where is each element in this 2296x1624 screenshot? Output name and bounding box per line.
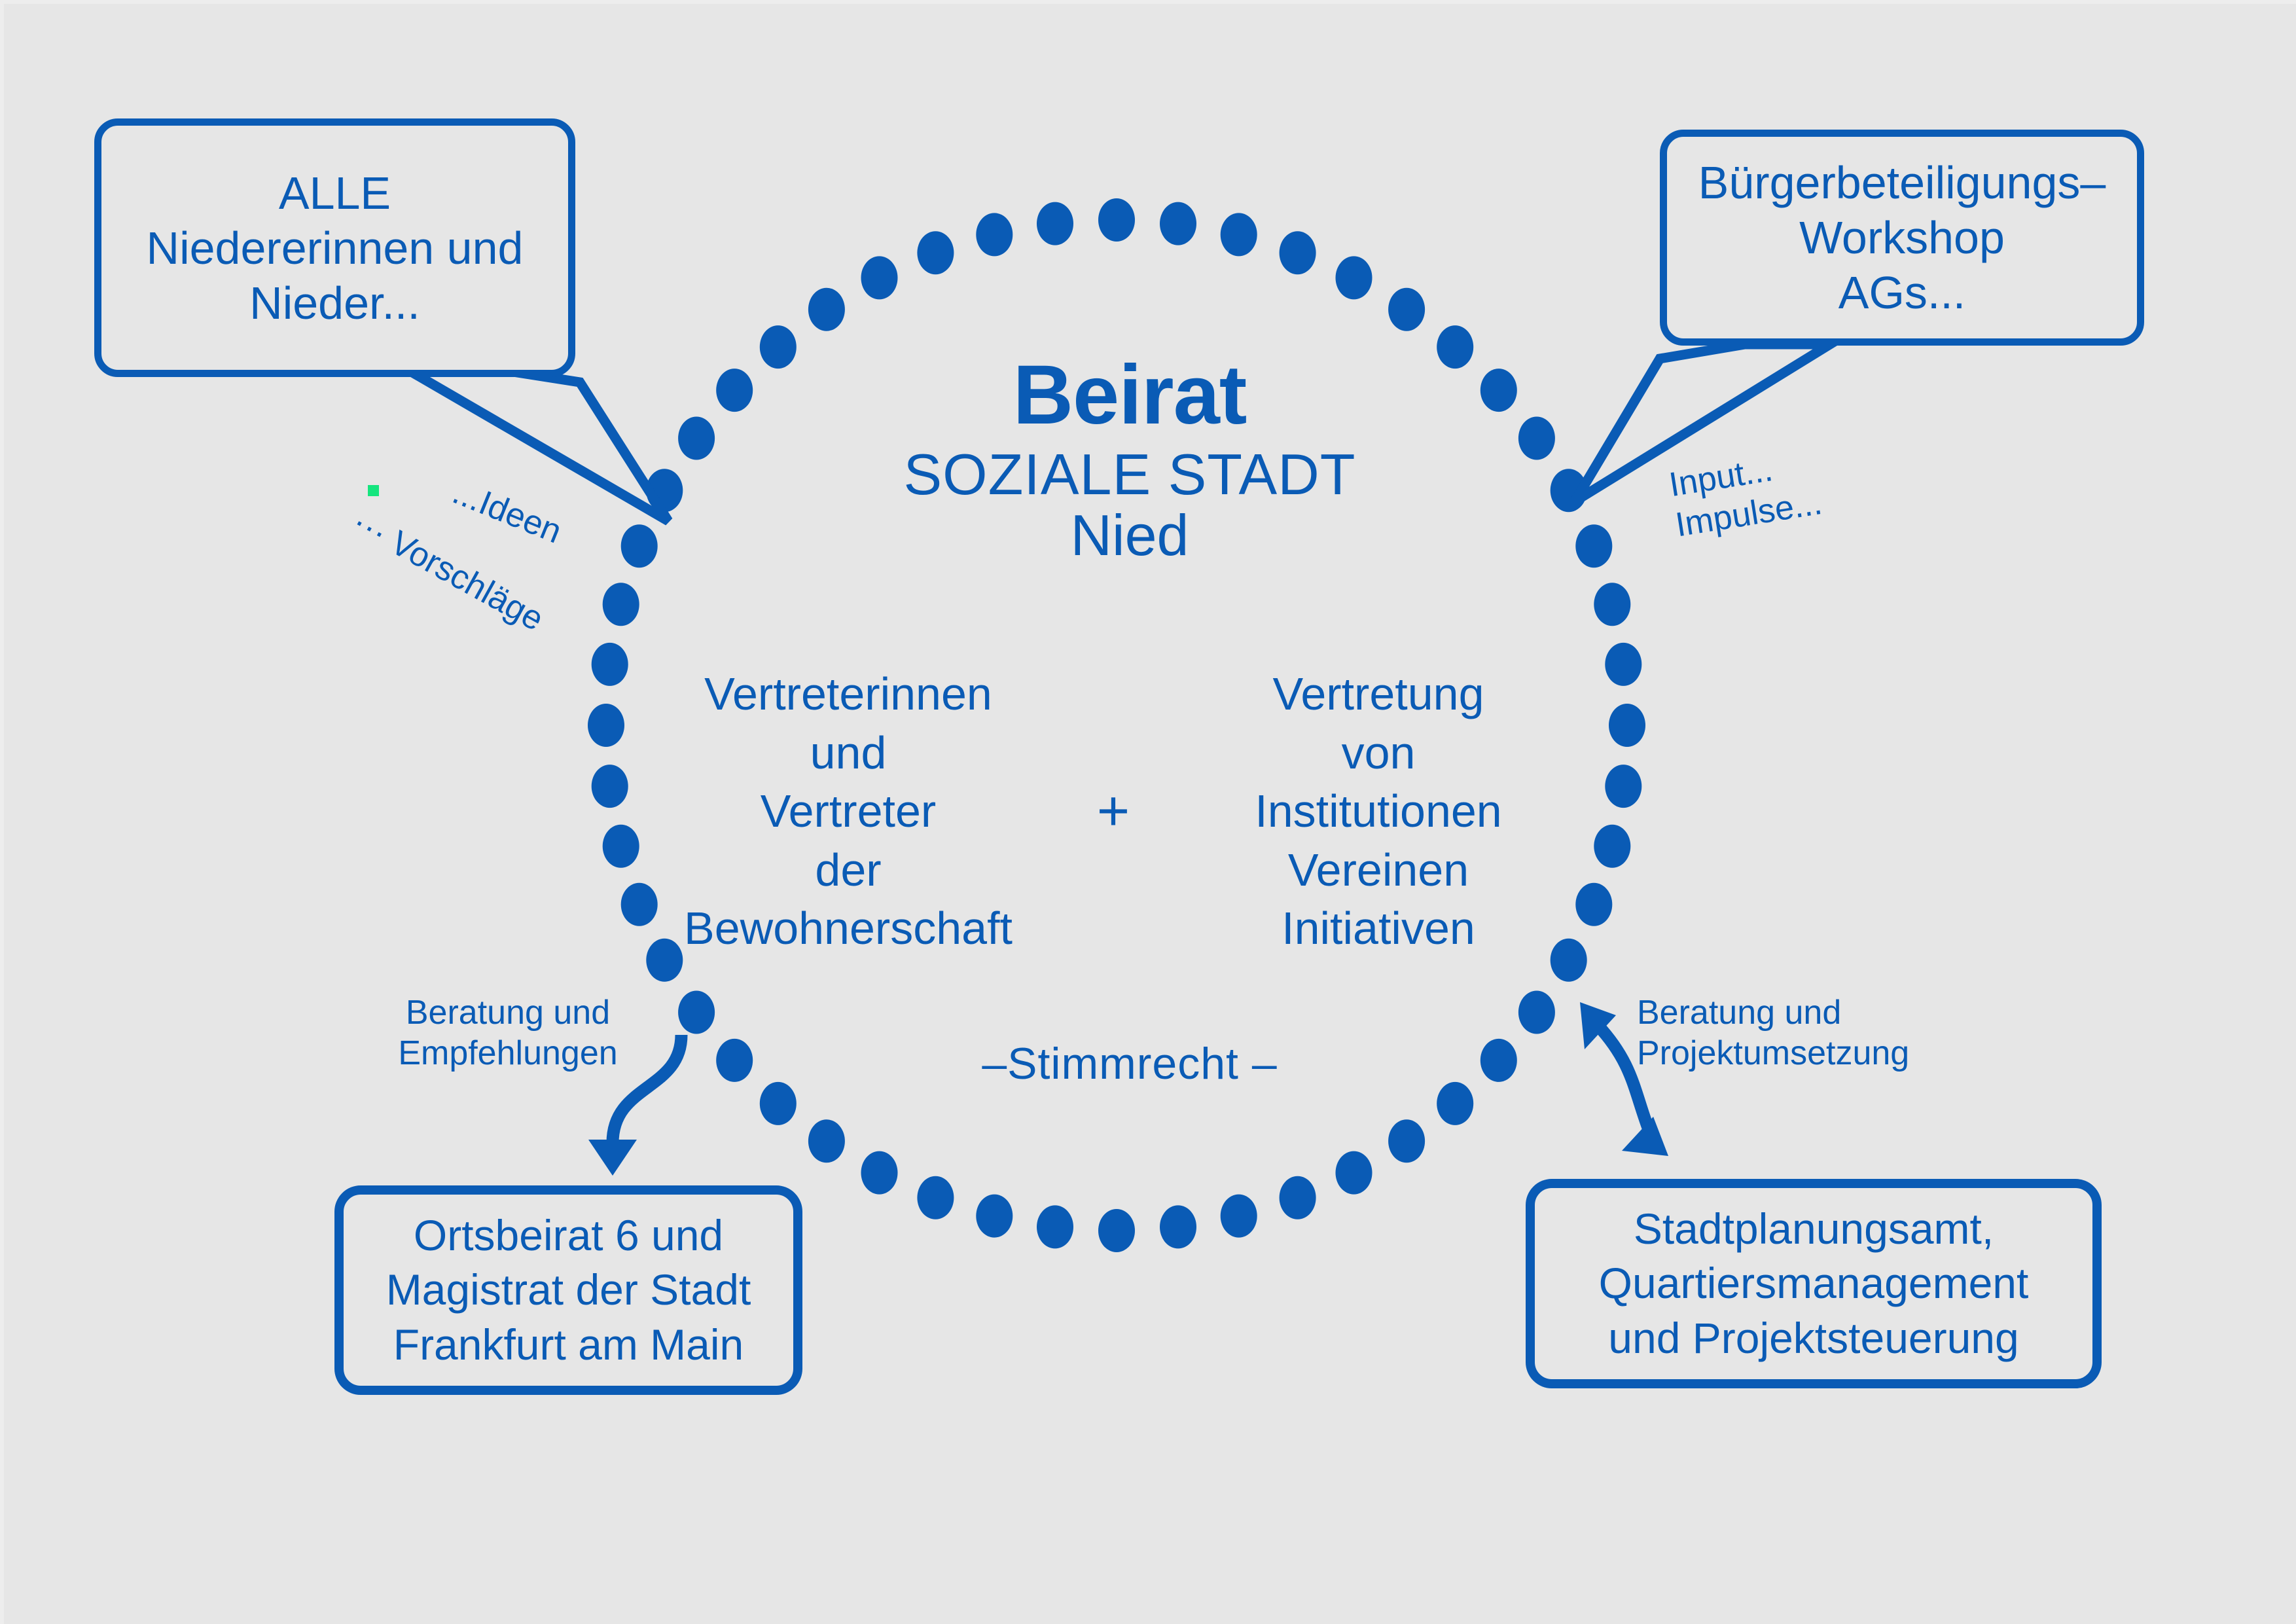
- ring-dot: [1551, 469, 1587, 512]
- box-stadtplanungsamt-text: Stadtplanungsamt,Quartiersmanagementund …: [1599, 1202, 2029, 1365]
- ring-dot: [1388, 288, 1425, 331]
- ring-dot: [1098, 198, 1135, 242]
- ring-dot: [1160, 1205, 1196, 1248]
- ring-dot: [861, 1151, 898, 1195]
- ring-dot: [917, 1176, 954, 1219]
- ring-dot: [588, 704, 624, 747]
- ring-dot: [1098, 1209, 1135, 1252]
- ring-dot: [808, 1119, 845, 1163]
- box-stadtplanungsamt[interactable]: Stadtplanungsamt,Quartiersmanagementund …: [1526, 1179, 2102, 1388]
- speech-bubble-workshop-text: Bürgerbeteiligungs–WorkshopAGs...: [1698, 155, 2106, 320]
- ring-dot: [1336, 1151, 1372, 1195]
- label-beratung-empfehlungen: Beratung undEmpfehlungen: [370, 992, 645, 1074]
- ring-dot: [808, 288, 845, 331]
- ring-dot: [1037, 1205, 1073, 1248]
- page-title: Beirat: [763, 351, 1496, 440]
- ring-dot: [1575, 524, 1612, 568]
- ring-dot: [603, 583, 639, 626]
- page-subtitle: SOZIALE STADT: [763, 444, 1496, 505]
- column-institutions: VertretungvonInstitutionenVereinenInitia…: [1195, 665, 1562, 958]
- diagram-canvas: Beirat SOZIALE STADT Nied Vertreterinnen…: [0, 0, 2296, 1624]
- ring-dot: [646, 469, 683, 512]
- arrow-right-head-down: [1622, 1117, 1668, 1156]
- column-residents: VertreterinnenundVertreterderBewohnersch…: [665, 665, 1031, 958]
- center-title-block: Beirat SOZIALE STADT Nied: [763, 351, 1496, 566]
- ring-dot: [1518, 991, 1555, 1034]
- membership-columns: VertreterinnenundVertreterderBewohnersch…: [665, 665, 1562, 958]
- ring-dot: [1605, 765, 1641, 808]
- ring-dot: [1280, 231, 1316, 274]
- ring-dot: [976, 213, 1013, 256]
- ring-dot: [1336, 256, 1372, 299]
- ring-dot: [1605, 643, 1641, 686]
- bubble-tail-left: [404, 368, 668, 521]
- ring-dot: [1594, 583, 1630, 626]
- speech-bubble-workshop[interactable]: Bürgerbeteiligungs–WorkshopAGs...: [1660, 130, 2144, 346]
- ring-dot: [716, 369, 753, 412]
- label-input-impulse: Input...Impulse...: [1666, 431, 1899, 546]
- label-beratung-projektumsetzung: Beratung undProjektumsetzung: [1637, 992, 1951, 1074]
- plus-operator-icon: +: [1074, 779, 1153, 844]
- box-ortsbeirat-magistrat[interactable]: Ortsbeirat 6 undMagistrat der StadtFrank…: [334, 1185, 802, 1395]
- ring-dot: [1609, 704, 1645, 747]
- ring-dot: [976, 1195, 1013, 1238]
- ring-dot: [678, 417, 715, 460]
- ring-dot: [678, 991, 715, 1034]
- ring-dot: [592, 643, 628, 686]
- speech-bubble-residents[interactable]: ALLENiedererinnen undNieder...: [94, 118, 575, 377]
- ring-dot: [861, 256, 898, 299]
- ring-dot: [1160, 202, 1196, 245]
- ring-dot: [1575, 883, 1612, 926]
- page-subtitle-2: Nied: [763, 505, 1496, 566]
- ring-dot: [1518, 417, 1555, 460]
- ring-dot: [1037, 202, 1073, 245]
- ring-dot: [917, 231, 954, 274]
- ring-dot: [603, 825, 639, 868]
- ring-dot: [1388, 1119, 1425, 1163]
- ring-dot: [716, 1039, 753, 1082]
- ring-dot: [1221, 1195, 1257, 1238]
- ring-dot: [621, 883, 658, 926]
- box-ortsbeirat-text: Ortsbeirat 6 undMagistrat der StadtFrank…: [386, 1208, 751, 1371]
- voting-rights-note: –Stimmrecht –: [763, 1038, 1496, 1089]
- ring-dot: [1280, 1176, 1316, 1219]
- speech-bubble-residents-text: ALLENiedererinnen undNieder...: [147, 166, 524, 331]
- arrow-left-down-head: [588, 1140, 637, 1176]
- green-accent-dot-icon: [368, 485, 379, 496]
- ring-dot: [621, 524, 658, 568]
- label-ideen: ...Ideen: [447, 472, 567, 552]
- ring-dot: [1594, 825, 1630, 868]
- ring-dot: [592, 765, 628, 808]
- ring-dot: [1221, 213, 1257, 256]
- arrow-right-head-up: [1580, 1002, 1616, 1049]
